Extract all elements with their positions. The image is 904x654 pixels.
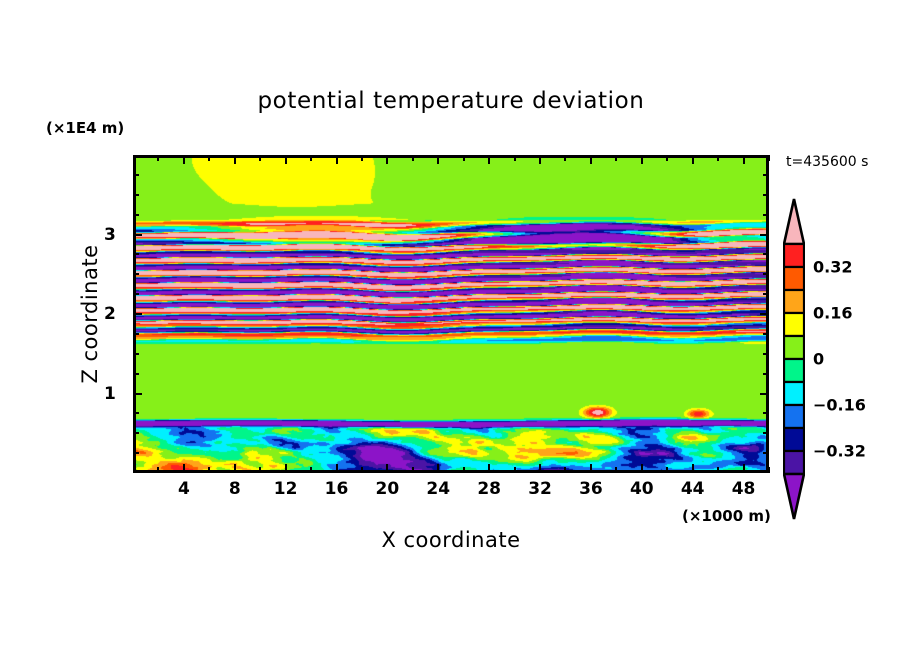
y-tick-minor-right bbox=[763, 412, 769, 414]
colorbar-band bbox=[784, 382, 804, 405]
x-tick-label: 48 bbox=[732, 479, 756, 499]
x-tick-major bbox=[386, 464, 388, 473]
x-tick-minor bbox=[564, 467, 566, 473]
x-tick-minor bbox=[768, 467, 770, 473]
x-tick-minor-top bbox=[361, 155, 363, 161]
x-tick-minor bbox=[157, 467, 159, 473]
x-tick-minor-top bbox=[157, 155, 159, 161]
y-tick-major-right bbox=[760, 313, 769, 315]
x-tick-minor-top bbox=[717, 155, 719, 161]
figure-canvas: potential temperature deviation (×1E4 m)… bbox=[0, 0, 904, 654]
x-tick-major-top bbox=[285, 155, 287, 164]
x-tick-major-top bbox=[641, 155, 643, 164]
x-axis-unit-label: (×1000 m) bbox=[682, 507, 771, 525]
y-tick-minor bbox=[133, 432, 139, 434]
page-title: potential temperature deviation bbox=[133, 88, 769, 114]
x-tick-minor bbox=[259, 467, 261, 473]
y-tick-minor-right bbox=[763, 333, 769, 335]
y-axis-title: Z coordinate bbox=[78, 155, 102, 473]
colorbar-band bbox=[784, 313, 804, 336]
x-tick-minor bbox=[310, 467, 312, 473]
y-tick-minor-right bbox=[763, 253, 769, 255]
y-tick-label: 2 bbox=[104, 304, 116, 324]
x-tick-major bbox=[692, 464, 694, 473]
y-tick-minor-right bbox=[763, 194, 769, 196]
x-tick-major-top bbox=[590, 155, 592, 164]
y-tick-major bbox=[133, 393, 142, 395]
y-tick-minor-right bbox=[763, 452, 769, 454]
x-tick-minor-top bbox=[208, 155, 210, 161]
colorbar-band bbox=[784, 244, 804, 267]
x-tick-minor-top bbox=[463, 155, 465, 161]
x-tick-major bbox=[488, 464, 490, 473]
x-tick-major bbox=[285, 464, 287, 473]
y-tick-major-right bbox=[760, 393, 769, 395]
x-tick-major bbox=[336, 464, 338, 473]
colorbar-tick-label: 0.16 bbox=[813, 304, 852, 323]
y-tick-minor-right bbox=[763, 214, 769, 216]
x-tick-label: 24 bbox=[426, 479, 450, 499]
x-tick-label: 36 bbox=[579, 479, 603, 499]
colorbar-band bbox=[784, 359, 804, 382]
x-tick-minor bbox=[514, 467, 516, 473]
x-tick-minor bbox=[615, 467, 617, 473]
y-tick-minor bbox=[133, 174, 139, 176]
x-tick-major-top bbox=[234, 155, 236, 164]
y-tick-minor bbox=[133, 373, 139, 375]
x-tick-major-top bbox=[183, 155, 185, 164]
contour-field bbox=[136, 158, 769, 473]
colorbar-band bbox=[784, 428, 804, 451]
x-tick-label: 12 bbox=[274, 479, 298, 499]
x-tick-label: 8 bbox=[229, 479, 241, 499]
colorbar-tick-label: 0.32 bbox=[813, 258, 852, 277]
y-tick-label: 1 bbox=[104, 384, 116, 404]
colorbar-band bbox=[784, 405, 804, 428]
y-tick-label: 3 bbox=[104, 225, 116, 245]
colorbar-under-arrow bbox=[784, 474, 804, 519]
y-tick-minor bbox=[133, 353, 139, 355]
x-tick-major bbox=[234, 464, 236, 473]
y-tick-minor bbox=[133, 412, 139, 414]
x-tick-major bbox=[743, 464, 745, 473]
y-tick-minor bbox=[133, 333, 139, 335]
plot-area bbox=[133, 155, 769, 473]
x-tick-minor-top bbox=[412, 155, 414, 161]
colorbar bbox=[783, 198, 805, 520]
x-tick-major-top bbox=[692, 155, 694, 164]
colorbar-band bbox=[784, 336, 804, 359]
y-tick-minor-right bbox=[763, 373, 769, 375]
y-tick-minor-right bbox=[763, 293, 769, 295]
y-tick-minor bbox=[133, 194, 139, 196]
colorbar-tick-label: 0 bbox=[813, 350, 824, 369]
x-tick-minor-top bbox=[310, 155, 312, 161]
x-axis-title: X coordinate bbox=[133, 528, 769, 552]
x-tick-minor bbox=[412, 467, 414, 473]
x-tick-major-top bbox=[336, 155, 338, 164]
x-tick-minor bbox=[463, 467, 465, 473]
x-tick-major-top bbox=[386, 155, 388, 164]
x-tick-label: 40 bbox=[630, 479, 654, 499]
colorbar-tick-label: −0.16 bbox=[813, 396, 866, 415]
x-tick-minor-top bbox=[259, 155, 261, 161]
x-tick-label: 20 bbox=[376, 479, 400, 499]
colorbar-tick-label: −0.32 bbox=[813, 442, 866, 461]
y-tick-major-right bbox=[760, 234, 769, 236]
time-annotation: t=435600 s bbox=[786, 154, 868, 170]
x-tick-minor-top bbox=[514, 155, 516, 161]
x-tick-major-top bbox=[488, 155, 490, 164]
x-tick-major bbox=[539, 464, 541, 473]
x-tick-label: 28 bbox=[477, 479, 501, 499]
x-tick-label: 44 bbox=[681, 479, 705, 499]
colorbar-over-arrow bbox=[784, 199, 804, 244]
x-tick-minor-top bbox=[768, 155, 770, 161]
x-tick-major bbox=[183, 464, 185, 473]
x-tick-major-top bbox=[539, 155, 541, 164]
colorbar-band bbox=[784, 267, 804, 290]
x-tick-major bbox=[590, 464, 592, 473]
y-tick-minor bbox=[133, 293, 139, 295]
x-tick-label: 4 bbox=[178, 479, 190, 499]
colorbar-band bbox=[784, 290, 804, 313]
y-tick-minor bbox=[133, 452, 139, 454]
x-tick-minor bbox=[666, 467, 668, 473]
y-tick-minor-right bbox=[763, 432, 769, 434]
y-tick-minor bbox=[133, 253, 139, 255]
x-tick-label: 16 bbox=[325, 479, 349, 499]
y-tick-minor-right bbox=[763, 174, 769, 176]
y-tick-minor-right bbox=[763, 273, 769, 275]
x-tick-minor bbox=[717, 467, 719, 473]
x-tick-major bbox=[437, 464, 439, 473]
y-tick-major bbox=[133, 313, 142, 315]
x-tick-minor-top bbox=[666, 155, 668, 161]
x-tick-label: 32 bbox=[528, 479, 552, 499]
x-tick-major-top bbox=[743, 155, 745, 164]
y-tick-major bbox=[133, 234, 142, 236]
x-tick-minor-top bbox=[564, 155, 566, 161]
y-axis-unit-label: (×1E4 m) bbox=[46, 119, 124, 137]
x-tick-minor-top bbox=[615, 155, 617, 161]
colorbar-band bbox=[784, 451, 804, 474]
x-tick-major-top bbox=[437, 155, 439, 164]
x-tick-minor bbox=[361, 467, 363, 473]
x-tick-major bbox=[641, 464, 643, 473]
x-tick-minor bbox=[208, 467, 210, 473]
y-tick-minor bbox=[133, 273, 139, 275]
y-tick-minor bbox=[133, 214, 139, 216]
y-tick-minor-right bbox=[763, 353, 769, 355]
